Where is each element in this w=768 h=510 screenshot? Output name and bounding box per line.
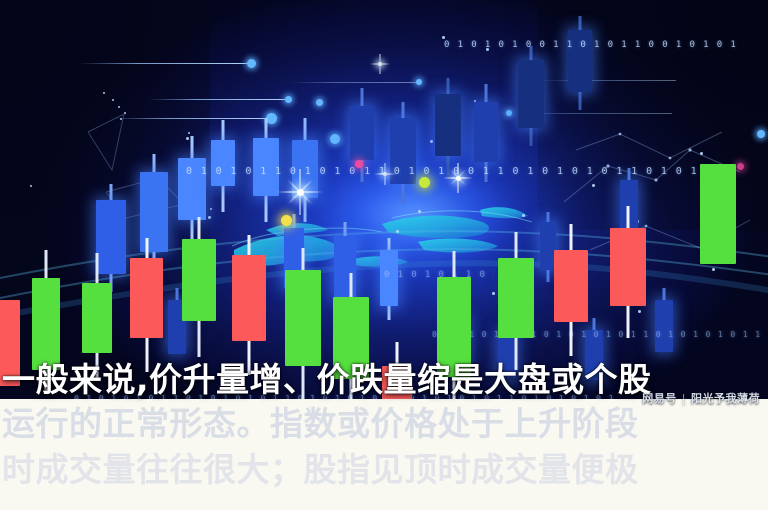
- pink-accent-dot: [737, 163, 744, 170]
- net-line: [78, 63, 250, 64]
- net-line-dot: [330, 134, 340, 144]
- candlestick-green: [182, 217, 216, 357]
- candlestick-bluedim: [655, 288, 673, 352]
- candlestick-red: [232, 235, 266, 375]
- candlestick-red: [610, 206, 646, 338]
- binary-strip-bottom-right: 0 1 0 1 0 1 0 1 1 0 1 0 1 0 1 0 1 1 0 1 …: [432, 330, 762, 339]
- net-line-dot: [757, 130, 765, 138]
- candlestick-body: [32, 278, 60, 370]
- candlestick-body: [518, 60, 544, 128]
- screenshot-root: 0 1 0 1 0 1 0 0 1 1 0 1 0 1 1 0 0 1 0 1 …: [0, 0, 768, 510]
- caption-line-2: 运行的正常形态。指数或价格处于上升阶段: [0, 404, 768, 444]
- network-polylines: [560, 110, 768, 280]
- star-burst-icon: [443, 163, 473, 193]
- binary-strip-top-right: 0 1 0 1 0 1 0 0 1 1 0 1 0 1 1 0 0 1 0 1 …: [444, 40, 744, 50]
- net-line-dot: [506, 110, 512, 116]
- candlestick-body: [474, 102, 498, 162]
- candlestick-bluedim: [390, 102, 416, 204]
- green-bulb-dot: [419, 177, 430, 188]
- watermark-platform: 网易号: [642, 390, 677, 406]
- net-line-dot: [247, 59, 256, 68]
- candlestick-red: [130, 238, 163, 372]
- net-line-dot: [316, 99, 323, 106]
- pink-accent-dot: [355, 160, 363, 168]
- caption-line-3: 时成交量往往很大；股指见顶时成交量便极: [0, 450, 768, 490]
- candlestick-body: [211, 140, 235, 186]
- star-burst-icon: [370, 54, 390, 74]
- yellow-bulb-dot: [281, 215, 292, 226]
- candlestick-body: [655, 300, 673, 352]
- candlestick-body: [285, 270, 321, 366]
- candlestick-body: [82, 283, 112, 353]
- net-line-dot: [285, 96, 292, 103]
- candlestick-body: [350, 106, 374, 160]
- candlestick-green: [498, 232, 534, 370]
- net-line: [290, 82, 420, 83]
- candlestick-green: [700, 164, 736, 264]
- net-line-dot: [416, 79, 422, 85]
- candlestick-bluedark: [568, 16, 592, 110]
- watermark-author: 阳光予我薄荷: [691, 390, 760, 406]
- star-burst-icon: [374, 163, 396, 185]
- candlestick-body: [232, 255, 266, 341]
- candlestick-body: [182, 239, 216, 321]
- candlestick-body: [554, 250, 588, 322]
- net-line: [148, 99, 288, 100]
- net-line: [112, 118, 272, 119]
- candlestick-bluedark: [518, 46, 544, 146]
- candlestick-red: [554, 224, 588, 356]
- watermark: 网易号 | 阳光予我薄荷: [642, 390, 760, 406]
- candlestick-body: [700, 164, 736, 264]
- star-burst-icon: [277, 169, 323, 215]
- candlestick-body: [610, 228, 646, 306]
- watermark-separator: |: [682, 392, 686, 405]
- candlestick-body: [130, 258, 163, 338]
- net-line: [536, 80, 676, 81]
- candlestick-body: [498, 258, 534, 338]
- candlestick-body: [435, 94, 461, 156]
